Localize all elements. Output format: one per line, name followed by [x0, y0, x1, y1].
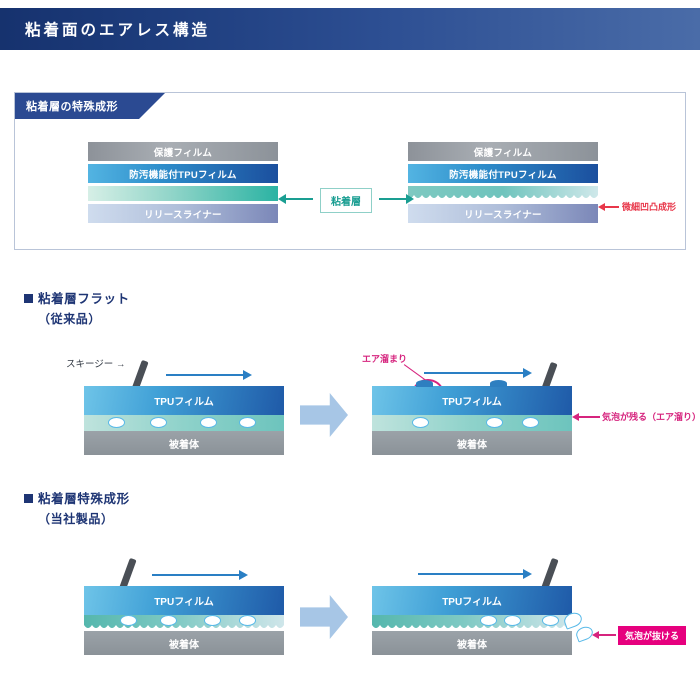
tpu-film-label: TPUフィルム: [442, 393, 502, 408]
micro-texture-label: 微細凹凸成形: [622, 200, 676, 213]
substrate-band: 被着体: [372, 631, 572, 655]
process-arrow-flat: [300, 393, 348, 437]
air-bubble: [239, 615, 256, 626]
layer-label: 防汚機能付TPUフィルム: [449, 167, 557, 181]
film-stack: TPUフィルム: [84, 586, 284, 655]
layer-release-liner: リリースライナー: [88, 204, 278, 223]
surface-bump: [490, 380, 507, 387]
film-stack: TPUフィルム 被着体: [372, 386, 572, 455]
bubble-escape-badge: 気泡が抜ける: [618, 626, 686, 645]
bullet-square-icon: [24, 294, 33, 303]
adhesive-arrow-right: [379, 198, 407, 200]
layer-tpu-film: 防汚機能付TPUフィルム: [88, 164, 278, 183]
layer-label: リリースライナー: [464, 207, 542, 221]
panel-tab: 粘着層の特殊成形: [15, 93, 165, 119]
layer-stack-flat: 保護フィルム 防汚機能付TPUフィルム リリースライナー: [88, 142, 278, 223]
squeegee-label: スキージー →: [66, 356, 125, 370]
substrate-band: 被着体: [372, 431, 572, 455]
section-subtitle-formed: （当社製品）: [38, 510, 114, 527]
adhesive-arrow-left: [285, 198, 313, 200]
layer-stack-formed: 保護フィルム 防汚機能付TPUフィルム リリースライナー: [408, 142, 598, 223]
bubble-escape-arrow: [598, 634, 616, 636]
adhesive-band-flat: [84, 415, 284, 431]
film-stack: TPUフィルム 被着体: [372, 586, 572, 655]
substrate-band: 被着体: [84, 431, 284, 455]
air-bubble: [412, 417, 429, 428]
air-bubble: [204, 615, 221, 626]
surface-bump: [416, 380, 433, 387]
layer-protective-film: 保護フィルム: [408, 142, 598, 161]
page-title: 粘着面のエアレス構造: [0, 18, 210, 40]
layer-release-liner: リリースライナー: [408, 204, 598, 223]
layer-label: 防汚機能付TPUフィルム: [129, 167, 237, 181]
motion-arrow: [166, 374, 244, 376]
air-bubble: [486, 417, 503, 428]
air-bubble: [120, 615, 137, 626]
bullet-square-icon: [24, 494, 33, 503]
adhesive-band-flat: [372, 415, 572, 431]
layer-adhesive-flat: [88, 186, 278, 201]
section-subtitle-flat: （従来品）: [38, 310, 101, 327]
air-bubble: [150, 417, 167, 428]
micro-texture-arrow: [604, 206, 619, 208]
layer-tpu-film: 防汚機能付TPUフィルム: [408, 164, 598, 183]
layer-label: リリースライナー: [144, 207, 222, 221]
adhesive-band-textured: [372, 615, 572, 631]
tpu-film-band: TPUフィルム: [84, 586, 284, 615]
page-root: 粘着面のエアレス構造 粘着層の特殊成形 保護フィルム 防汚機能付TPUフィルム …: [0, 0, 700, 700]
substrate-band: 被着体: [84, 631, 284, 655]
air-bubble: [480, 615, 497, 626]
motion-arrow: [418, 573, 524, 575]
section-title-formed: 粘着層特殊成形: [24, 488, 130, 507]
motion-arrow: [424, 372, 524, 374]
section-title-flat: 粘着層フラット: [24, 288, 130, 307]
substrate-label: 被着体: [169, 636, 199, 651]
process-arrow-formed: [300, 595, 348, 639]
air-bubble: [108, 417, 125, 428]
panel-tab-label: 粘着層の特殊成形: [15, 98, 118, 114]
substrate-label: 被着体: [457, 436, 487, 451]
tpu-film-band: TPUフィルム: [84, 386, 284, 415]
page-header: 粘着面のエアレス構造: [0, 8, 700, 50]
adhesive-layer-callout: 粘着層: [320, 188, 372, 213]
air-bubble: [542, 615, 559, 626]
substrate-label: 被着体: [169, 436, 199, 451]
air-bubble: [504, 615, 521, 626]
air-bubble: [522, 417, 539, 428]
layer-label: 保護フィルム: [154, 145, 212, 159]
adhesive-callout-label: 粘着層: [331, 193, 361, 208]
substrate-label: 被着体: [457, 636, 487, 651]
air-pocket-leader-line: [404, 364, 426, 380]
adhesive-band-textured: [84, 615, 284, 631]
wavy-adhesive-shape: [408, 186, 598, 201]
tpu-film-label: TPUフィルム: [154, 393, 214, 408]
air-bubble: [160, 615, 177, 626]
tpu-film-band: TPUフィルム: [372, 386, 572, 415]
layer-label: 保護フィルム: [474, 145, 532, 159]
bubble-remain-label: 気泡が残る（エア溜り）: [602, 410, 700, 423]
tpu-film-band: TPUフィルム: [372, 586, 572, 615]
air-bubble: [239, 417, 256, 428]
air-pocket-label: エア溜まり: [362, 352, 407, 365]
tpu-film-label: TPUフィルム: [154, 593, 214, 608]
film-stack: TPUフィルム 被着体: [84, 386, 284, 455]
tpu-film-label: TPUフィルム: [442, 593, 502, 608]
air-bubble: [200, 417, 217, 428]
bubble-remain-arrow: [578, 416, 600, 418]
layer-protective-film: 保護フィルム: [88, 142, 278, 161]
layer-adhesive-textured: [408, 186, 598, 201]
motion-arrow: [152, 574, 240, 576]
